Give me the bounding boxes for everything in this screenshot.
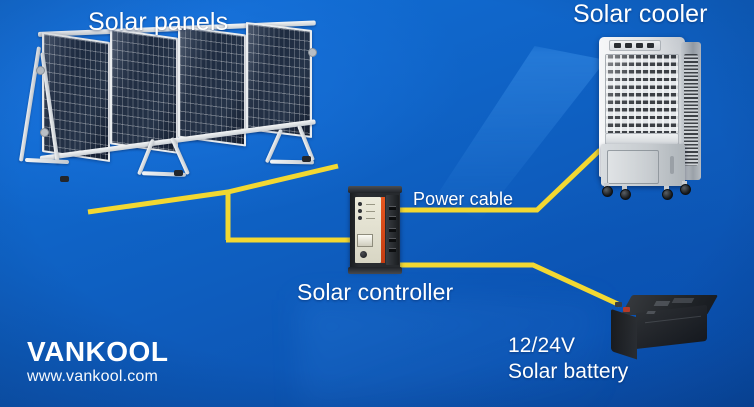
brand-block: VANKOOL www.vankool.com xyxy=(27,337,168,388)
brand-url: www.vankool.com xyxy=(27,366,168,388)
label-battery-name: Solar battery xyxy=(508,359,628,385)
brand-name: VANKOOL xyxy=(27,337,168,366)
label-power-cable: Power cable xyxy=(413,189,513,210)
diagram-canvas: Solar panels Solar cooler Power cable So… xyxy=(0,0,754,407)
label-solar-battery: 12/24V Solar battery xyxy=(508,333,628,385)
label-solar-cooler: Solar cooler xyxy=(573,0,708,29)
label-battery-voltage: 12/24V xyxy=(508,334,575,357)
label-solar-panels: Solar panels xyxy=(88,8,228,37)
label-solar-controller: Solar controller xyxy=(297,279,453,306)
